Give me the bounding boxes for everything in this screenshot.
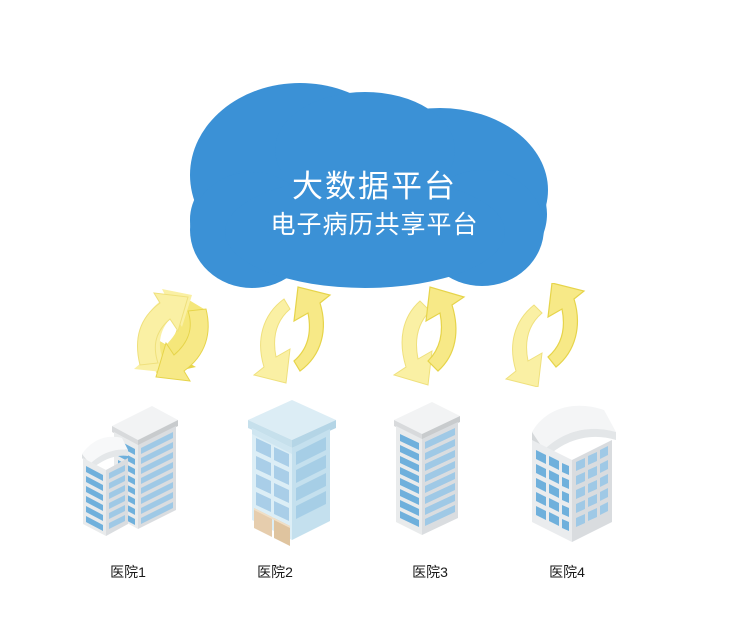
hospital-2-label: 医院2	[215, 562, 335, 582]
hospital-4-building	[518, 398, 628, 548]
hospital-2-building	[240, 398, 344, 548]
circular-sync-arrows-icon	[388, 283, 480, 387]
cloud-title: 大数据平台	[0, 170, 749, 204]
hospital-4-label: 医院4	[507, 562, 627, 582]
sync-arrow-1	[126, 283, 218, 387]
circular-sync-arrows-icon	[126, 283, 218, 387]
hospital-1-label: 医院1	[68, 562, 188, 582]
diagram-canvas: 大数据平台 电子病历共享平台	[0, 0, 749, 638]
twin-tower-building-icon	[80, 398, 202, 546]
hospital-3-label: 医院3	[370, 562, 490, 582]
sync-arrow-4	[500, 283, 592, 387]
circular-sync-arrows-icon	[246, 283, 338, 387]
hospital-1-building	[80, 398, 202, 546]
sync-arrow-2	[246, 283, 338, 387]
flat-roof-building-icon	[240, 398, 344, 548]
narrow-tower-building-icon	[388, 398, 484, 546]
cloud-subtitle: 电子病历共享平台	[0, 211, 749, 239]
circular-sync-arrows-icon	[500, 283, 592, 387]
curved-roof-building-icon	[518, 398, 628, 548]
sync-arrow-3	[388, 283, 480, 387]
hospital-3-building	[388, 398, 484, 546]
